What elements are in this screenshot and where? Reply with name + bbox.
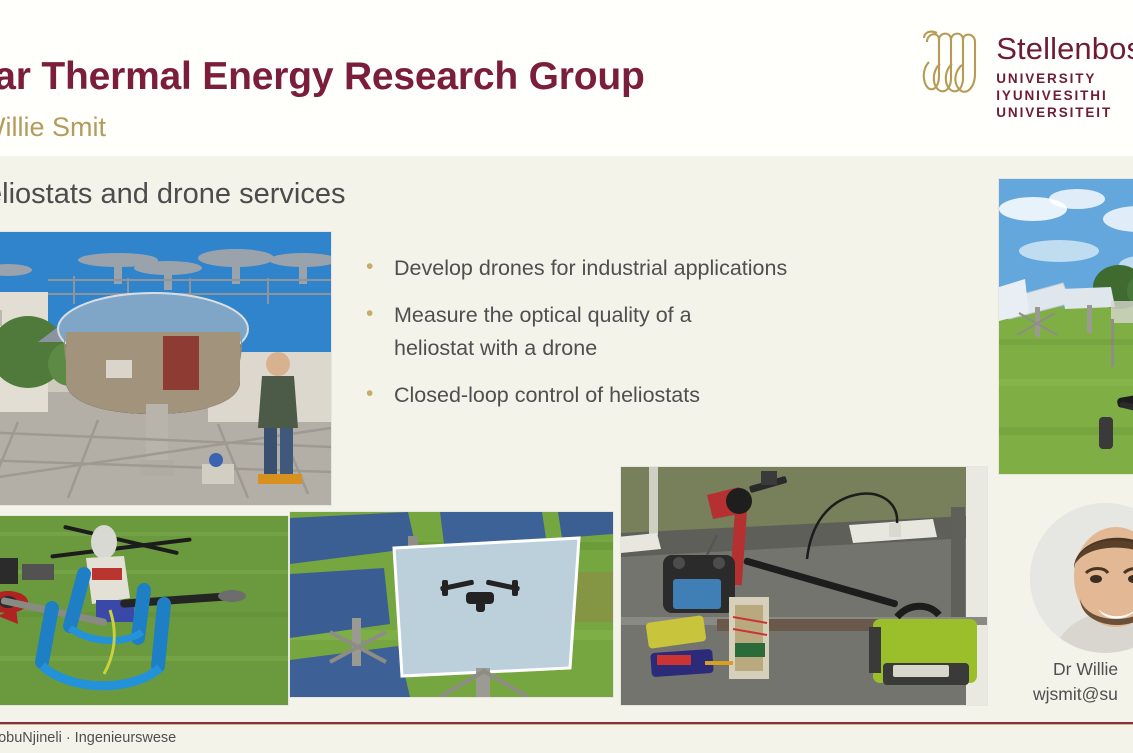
- photo-field-heliostats-drone: [999, 179, 1133, 474]
- logo-wordmark: Stellenbosch: [996, 33, 1133, 64]
- page-title: olar Thermal Energy Research Group: [0, 55, 860, 99]
- list-item: • Measure the optical quality of a helio…: [366, 299, 886, 365]
- footer-text: eering · EyobuNjineli · Ingenieurswese: [0, 730, 176, 746]
- contact-block: Dr Willie wjsmit@su: [1005, 657, 1133, 707]
- list-item: • Closed-loop control of heliostats: [366, 379, 886, 412]
- section-heading: eliostats and drone services: [0, 178, 345, 211]
- bullet-list: • Develop drones for industrial applicat…: [366, 252, 886, 426]
- logo-language-lines: UNIVERSITY IYUNIVESITHI UNIVERSITEIT: [996, 70, 1133, 121]
- bullet-text: Develop drones for industrial applicatio…: [394, 252, 787, 285]
- photo-helicopter-drone-grass: [0, 516, 288, 705]
- contact-name: Dr Willie: [1005, 657, 1133, 682]
- bullet-text: Closed-loop control of heliostats: [394, 379, 700, 412]
- bullet-dot-icon: •: [366, 252, 394, 285]
- university-shield-icon: [919, 28, 983, 110]
- list-item: • Develop drones for industrial applicat…: [366, 252, 886, 285]
- slide-header: olar Thermal Energy Research Group Willi…: [0, 0, 1133, 156]
- university-logo: Stellenbosch UNIVERSITY IYUNIVESITHI UNI…: [919, 28, 1133, 110]
- presentation-slide: olar Thermal Energy Research Group Willi…: [0, 0, 1133, 753]
- logo-wordmark-block: Stellenbosch UNIVERSITY IYUNIVESITHI UNI…: [996, 28, 1133, 121]
- photo-rooftop-heliostat: [0, 232, 331, 505]
- footer-divider-accent: [0, 724, 1133, 725]
- bullet-text: Measure the optical quality of a heliost…: [394, 299, 692, 365]
- bullet-dot-icon: •: [366, 299, 394, 365]
- photo-drone-reflected-in-heliostat: [290, 512, 613, 697]
- logo-line-english: UNIVERSITY: [996, 70, 1133, 87]
- contact-email[interactable]: wjsmit@su: [1005, 682, 1133, 707]
- logo-line-isixhosa: IYUNIVESITHI: [996, 87, 1133, 104]
- page-subtitle: Willie Smit: [0, 112, 106, 143]
- bullet-dot-icon: •: [366, 379, 394, 412]
- photo-lab-bench-drone-equipment: [621, 467, 987, 705]
- logo-line-afrikaans: UNIVERSITEIT: [996, 104, 1133, 121]
- avatar: [1030, 503, 1133, 653]
